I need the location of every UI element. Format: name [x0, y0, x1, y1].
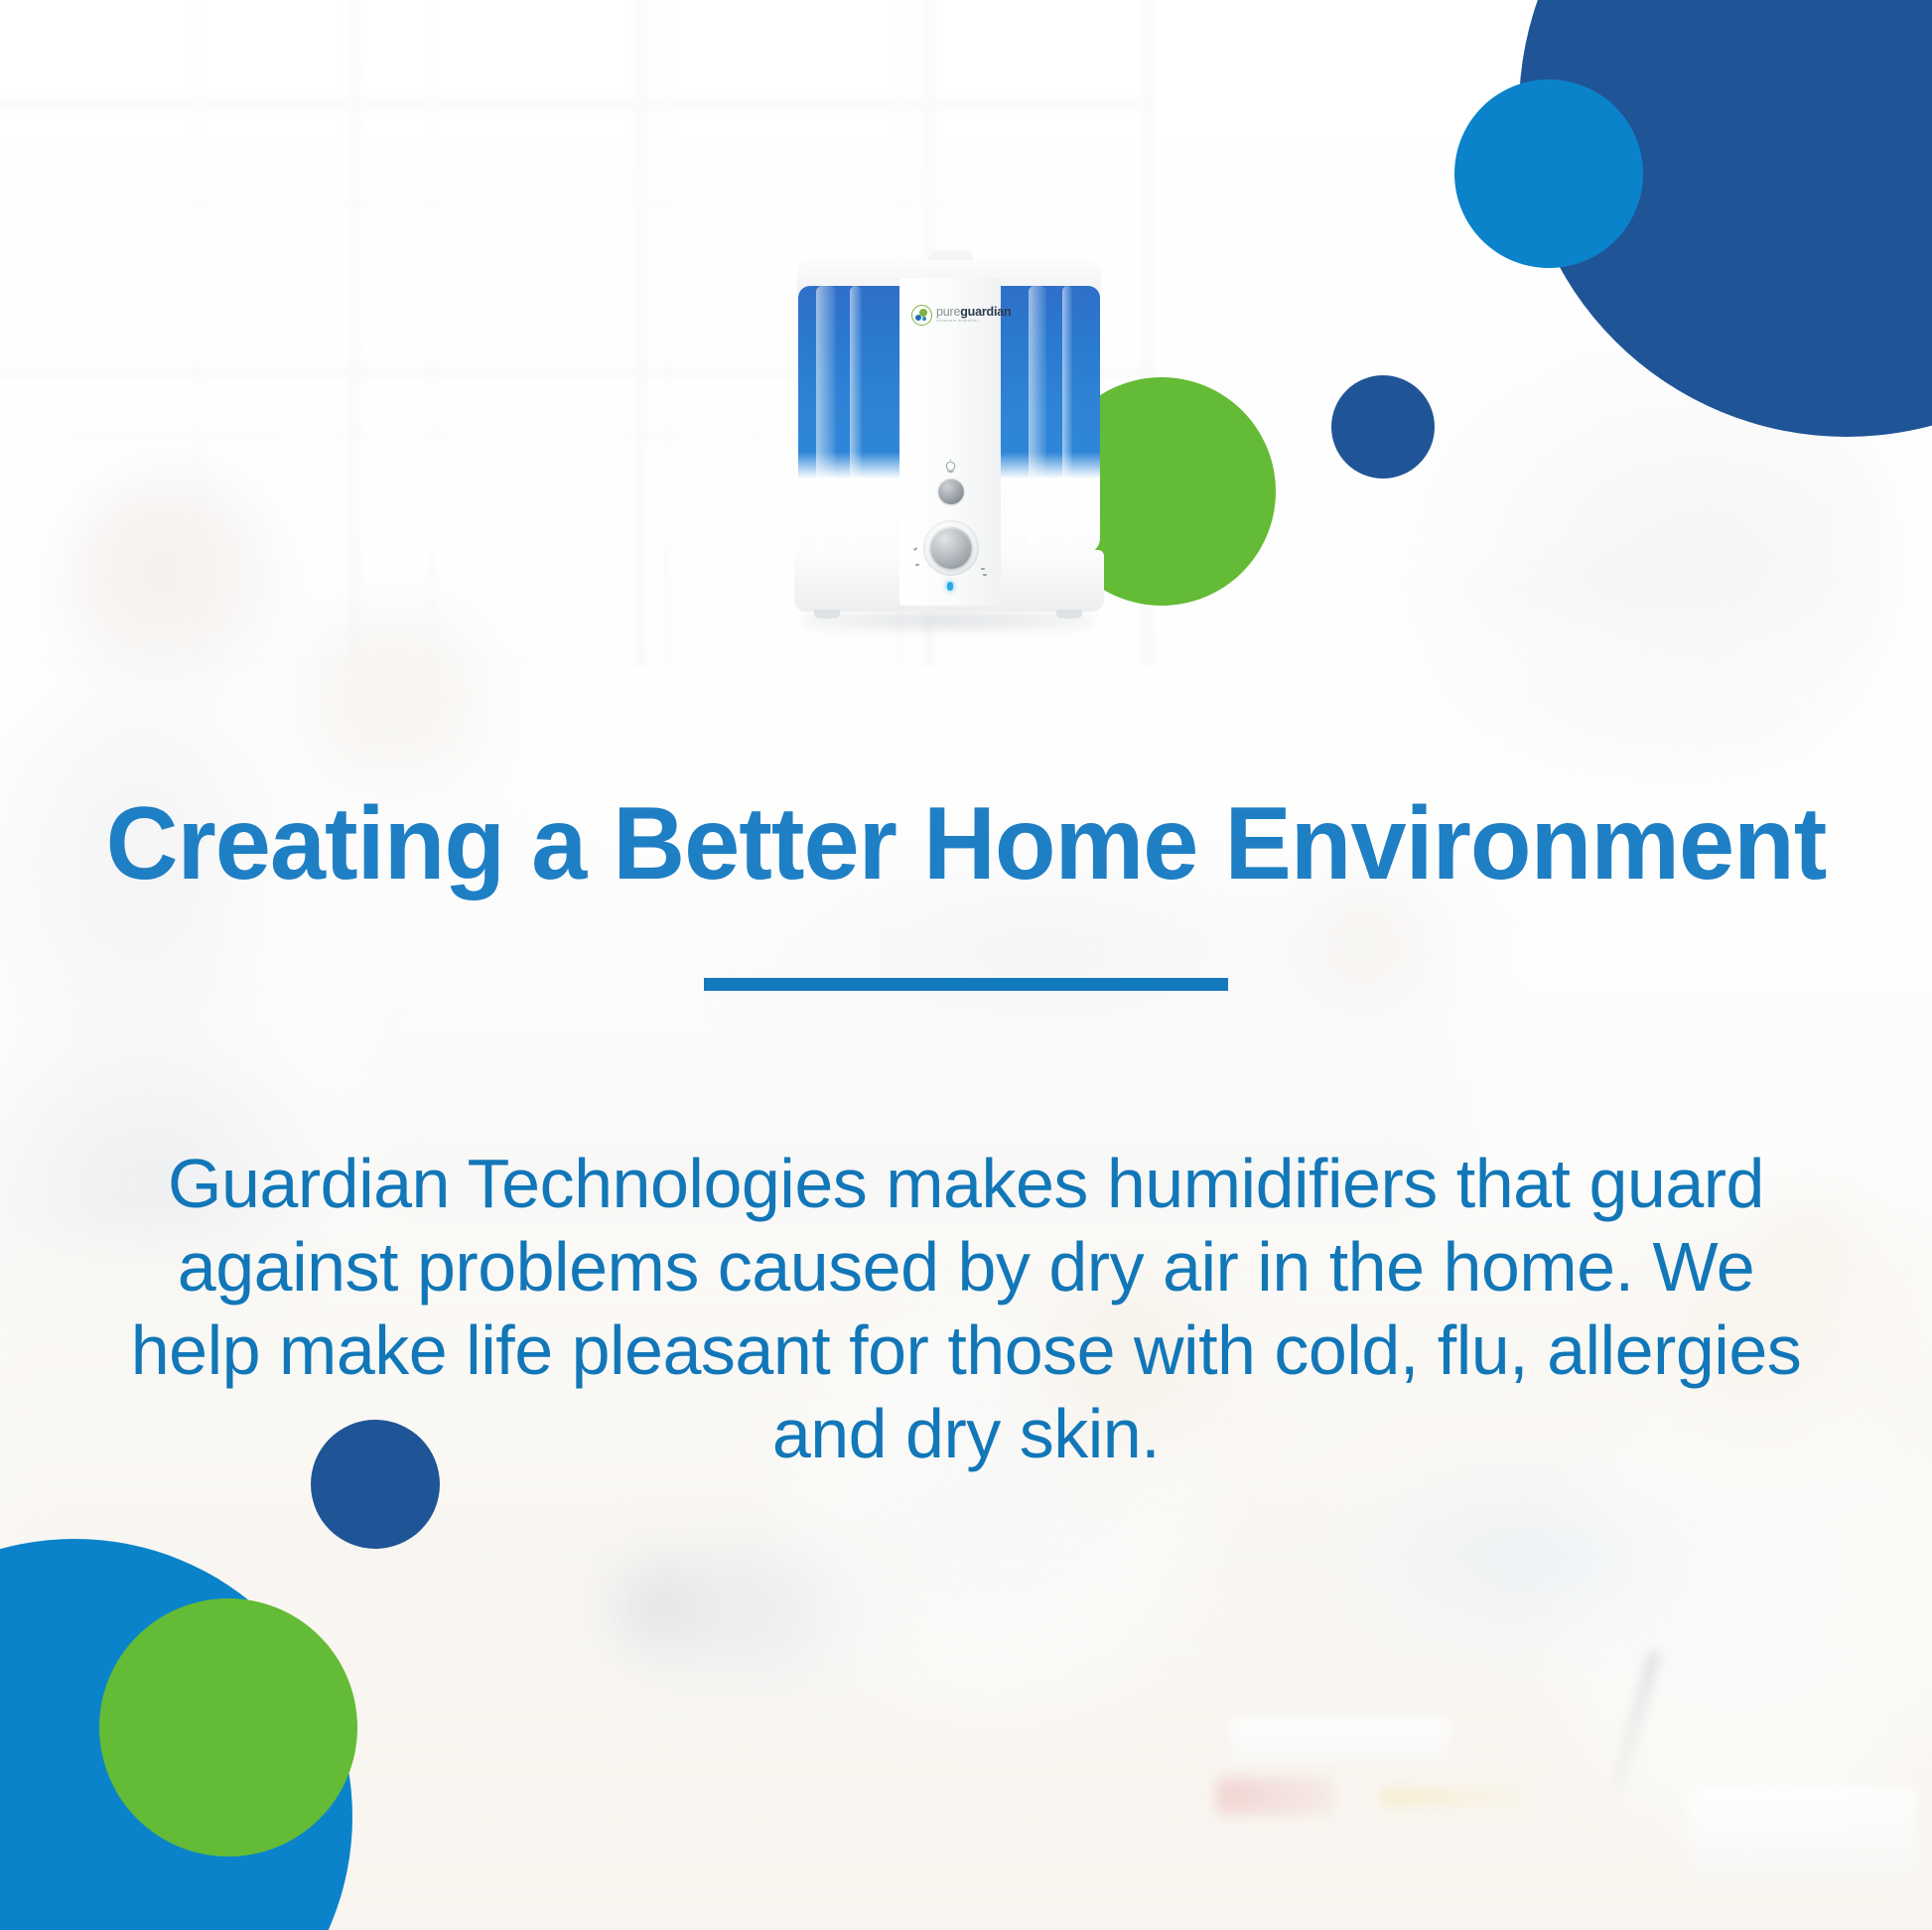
tank-highlight: [816, 286, 836, 554]
navy-dot-lower-left: [311, 1420, 440, 1549]
page-title: Creating a Better Home Environment: [29, 792, 1903, 896]
humidifier-product-image: pureguardian ultrasonic humidifier: [780, 260, 1118, 627]
product-foot: [814, 610, 840, 619]
product-foot: [1056, 610, 1082, 619]
light-bulb-icon: [943, 459, 958, 476]
logo-text-pure: pure: [936, 305, 960, 319]
pureguardian-logo: pureguardian ultrasonic humidifier: [911, 304, 995, 326]
body-line: help make life pleasant for those with c…: [102, 1309, 1830, 1392]
dial-tick: [913, 547, 917, 551]
body-line: against problems caused by dry air in th…: [102, 1225, 1830, 1309]
dial-tick: [915, 564, 919, 566]
pureguardian-logo-mark: [911, 305, 932, 326]
green-circle-bottom-left: [99, 1598, 357, 1857]
logo-dot-blue: [915, 315, 921, 321]
body-line: Guardian Technologies makes humidifiers …: [102, 1142, 1830, 1225]
logo-tagline: ultrasonic humidifier: [936, 320, 1011, 324]
power-indicator-led: [947, 582, 953, 591]
bright-blue-circle-top-right: [1454, 79, 1643, 268]
mist-output-dial[interactable]: [930, 527, 972, 569]
dial-tick: [983, 574, 987, 576]
logo-dot-small: [922, 317, 926, 321]
tank-highlight: [850, 286, 862, 554]
tank-highlight: [1062, 286, 1072, 554]
product-drop-shadow: [804, 610, 1094, 631]
marketing-poster: pureguardian ultrasonic humidifier Creat…: [0, 0, 1932, 1930]
pureguardian-logo-text: pureguardian ultrasonic humidifier: [936, 306, 1011, 323]
tank-highlight: [1029, 286, 1046, 554]
navy-dot-upper-right: [1331, 375, 1435, 479]
product-control-panel: pureguardian ultrasonic humidifier: [899, 278, 1001, 606]
logo-text-guardian: guardian: [960, 305, 1011, 319]
night-light-button[interactable]: [938, 479, 964, 504]
title-divider: [704, 978, 1228, 991]
dial-tick: [981, 568, 985, 570]
